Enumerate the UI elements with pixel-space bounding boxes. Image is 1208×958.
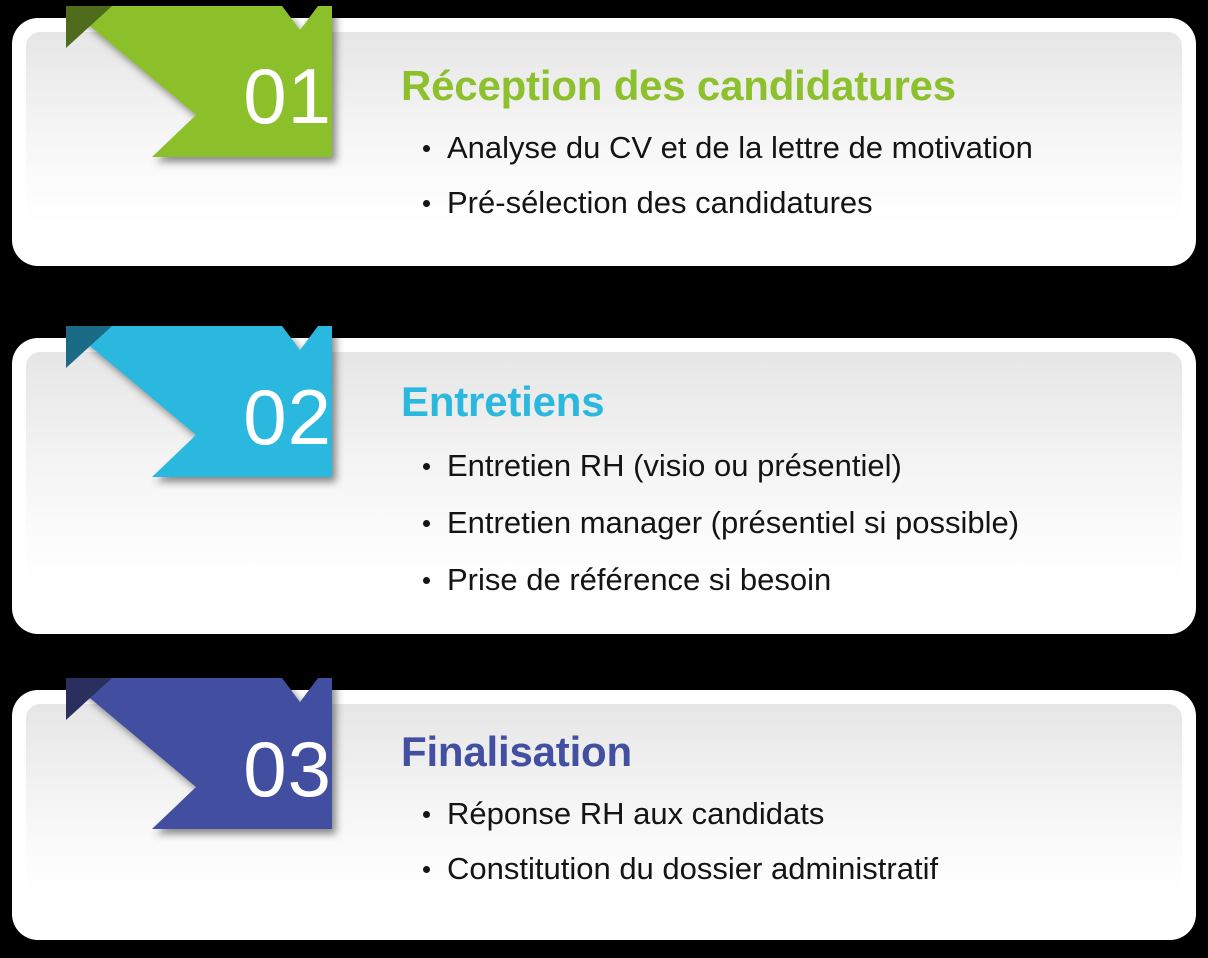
step-2-title: Entretiens xyxy=(401,380,1156,424)
list-item-label: Analyse du CV et de la lettre de motivat… xyxy=(447,130,1033,165)
list-item: Réponse RH aux candidats xyxy=(401,798,1156,829)
list-item: Entretien manager (présentiel si possibl… xyxy=(401,507,1156,538)
step-3-bullet-list: Réponse RH aux candidats Constitution du… xyxy=(401,798,1156,884)
step-3-ribbon: 03 xyxy=(44,672,344,844)
step-card-3-content: Finalisation Réponse RH aux candidats Co… xyxy=(401,730,1156,884)
step-3-title: Finalisation xyxy=(401,730,1156,774)
step-2-bullet-list: Entretien RH (visio ou présentiel) Entre… xyxy=(401,450,1156,595)
bullet-dot-icon xyxy=(423,145,430,152)
bullet-dot-icon xyxy=(423,520,430,527)
list-item: Pré-sélection des candidatures xyxy=(401,187,1156,218)
bullet-dot-icon xyxy=(423,463,430,470)
list-item: Entretien RH (visio ou présentiel) xyxy=(401,450,1156,481)
bullet-dot-icon xyxy=(423,811,430,818)
bullet-dot-icon xyxy=(423,866,430,873)
step-3-number: 03 xyxy=(44,672,344,844)
step-2-number: 02 xyxy=(44,320,344,492)
step-1-bullet-list: Analyse du CV et de la lettre de motivat… xyxy=(401,132,1156,218)
step-1-title: Réception des candidatures xyxy=(401,64,1156,108)
step-card-1-content: Réception des candidatures Analyse du CV… xyxy=(401,64,1156,218)
step-card-2-content: Entretiens Entretien RH (visio ou présen… xyxy=(401,380,1156,595)
list-item: Constitution du dossier administratif xyxy=(401,853,1156,884)
list-item-label: Prise de référence si besoin xyxy=(447,562,831,597)
list-item-label: Entretien manager (présentiel si possibl… xyxy=(447,505,1019,540)
list-item-label: Entretien RH (visio ou présentiel) xyxy=(447,448,902,483)
list-item: Analyse du CV et de la lettre de motivat… xyxy=(401,132,1156,163)
bullet-dot-icon xyxy=(423,577,430,584)
list-item-label: Réponse RH aux candidats xyxy=(447,796,824,831)
list-item: Prise de référence si besoin xyxy=(401,564,1156,595)
list-item-label: Constitution du dossier administratif xyxy=(447,851,938,886)
process-diagram: Réception des candidatures Analyse du CV… xyxy=(0,0,1208,958)
step-2-ribbon: 02 xyxy=(44,320,344,492)
list-item-label: Pré-sélection des candidatures xyxy=(447,185,873,220)
step-1-number: 01 xyxy=(44,0,344,172)
step-1-ribbon: 01 xyxy=(44,0,344,172)
bullet-dot-icon xyxy=(423,200,430,207)
